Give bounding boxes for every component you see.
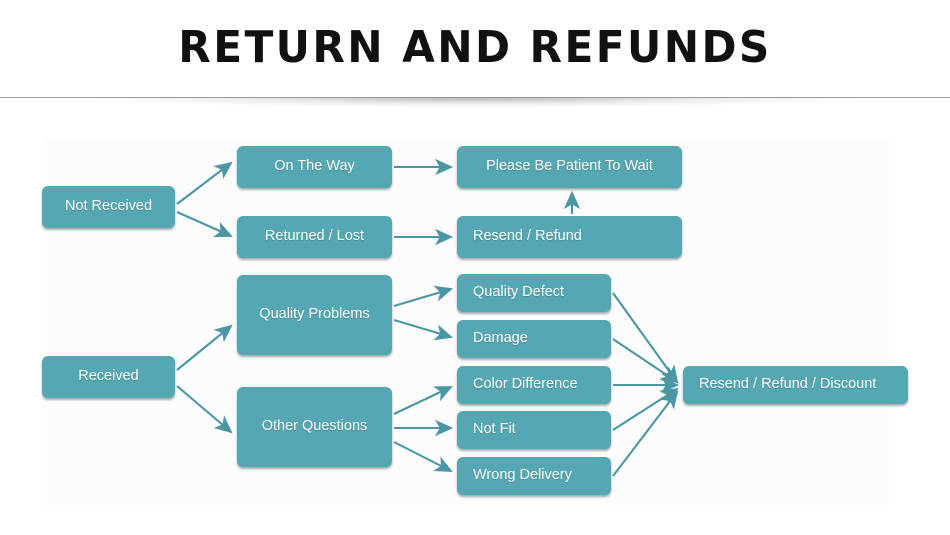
edge-other-questions-wrong <box>394 442 451 471</box>
node-color_diff[interactable]: Color Difference <box>457 366 611 404</box>
node-not_received[interactable]: Not Received <box>42 186 175 228</box>
edge-damage-resend-discount <box>613 339 677 382</box>
node-label: Please Be Patient To Wait <box>486 158 653 175</box>
node-label: On The Way <box>274 158 355 175</box>
edge-received-other-questions <box>177 386 231 432</box>
node-other_questions[interactable]: Other Questions <box>237 387 392 467</box>
node-label: Damage <box>473 330 528 347</box>
edge-not-fit-resend-discount <box>613 389 677 430</box>
node-label: Returned / Lost <box>265 228 364 245</box>
edge-received-quality-problems <box>177 326 231 370</box>
node-label: Quality Defect <box>473 284 564 301</box>
node-damage[interactable]: Damage <box>457 320 611 358</box>
node-label: Wrong Delivery <box>473 467 572 484</box>
node-not_fit[interactable]: Not Fit <box>457 411 611 449</box>
node-label: Color Difference <box>473 376 578 393</box>
node-resend_refund[interactable]: Resend / Refund <box>457 216 682 258</box>
slide-canvas: RETURN AND REFUNDS <box>0 0 950 535</box>
node-returned_lost[interactable]: Returned / Lost <box>237 216 392 258</box>
node-label: Resend / Refund / Discount <box>699 376 876 393</box>
edge-wrong-resend-discount <box>613 392 677 476</box>
node-wrong_delivery[interactable]: Wrong Delivery <box>457 457 611 495</box>
edge-other-questions-color <box>394 387 451 414</box>
edge-quality-problems-defect <box>394 289 451 306</box>
node-resend_discount[interactable]: Resend / Refund / Discount <box>683 366 908 404</box>
node-label: Not Received <box>65 198 152 215</box>
edge-not-received-returned-lost <box>177 212 231 236</box>
edge-defect-resend-discount <box>613 293 677 382</box>
node-be_patient[interactable]: Please Be Patient To Wait <box>457 146 682 188</box>
node-label: Quality Problems <box>259 306 369 323</box>
edge-quality-problems-damage <box>394 320 451 337</box>
edge-not-received-on-the-way <box>177 163 231 204</box>
node-quality_defect[interactable]: Quality Defect <box>457 274 611 312</box>
connector-layer <box>0 0 950 535</box>
node-label: Received <box>78 368 138 385</box>
node-on_the_way[interactable]: On The Way <box>237 146 392 188</box>
node-label: Resend / Refund <box>473 228 582 245</box>
node-quality_probs[interactable]: Quality Problems <box>237 275 392 355</box>
node-label: Not Fit <box>473 421 516 438</box>
node-received[interactable]: Received <box>42 356 175 398</box>
node-label: Other Questions <box>262 418 368 435</box>
